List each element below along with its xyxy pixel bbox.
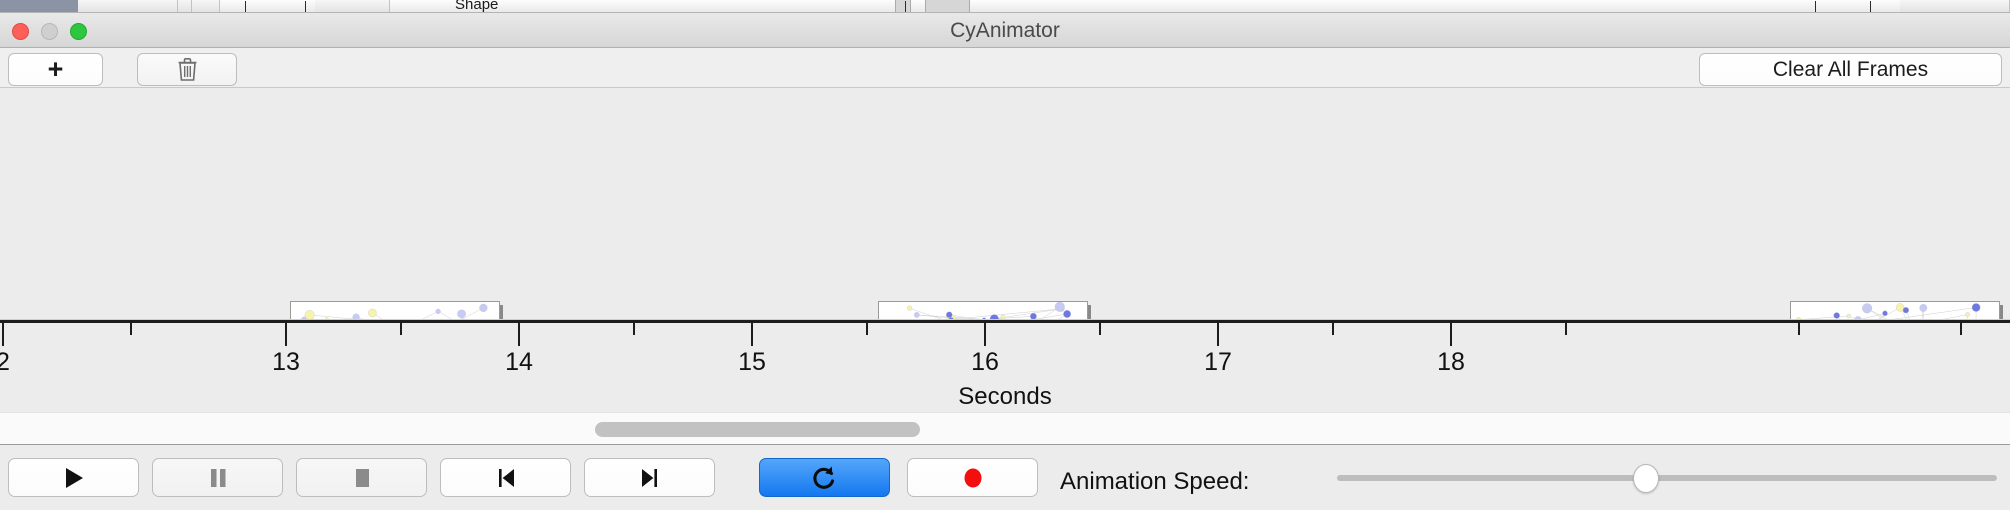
ruler-tick-label: 16 [971,348,999,377]
background-block [895,0,911,13]
ruler-tick-major [751,323,753,346]
background-window-strip: Shape [0,0,2010,13]
ruler-tick-label: 17 [1204,348,1232,377]
background-tab [315,0,390,13]
plus-icon: + [48,56,64,83]
ruler-tick-minor [130,323,132,335]
background-mark [905,1,906,13]
keyframe-panel[interactable]: MCM1MCM1MCM1 [0,88,2010,320]
timeline-ruler[interactable]: 2131415161718 Seconds [0,320,2010,410]
ruler-tick-minor [1798,323,1800,335]
play-button[interactable] [8,458,139,497]
background-selected-tab [0,0,78,13]
background-mark [245,1,246,13]
ruler-tick-minor [1099,323,1101,335]
ruler-tick-label: 13 [272,348,300,377]
ruler-tick-major [984,323,986,346]
clear-all-frames-label: Clear All Frames [1773,58,1928,82]
trash-icon [178,58,197,81]
slider-track [1337,475,1997,481]
clear-all-frames-button[interactable]: Clear All Frames [1699,53,2002,86]
playback-toolbar: Animation Speed: [0,446,2010,510]
window-title: CyAnimator [0,13,2010,48]
ruler-tick-minor [1960,323,1962,335]
background-tab [78,0,178,13]
keyframe-thumbnail[interactable]: MCM1 [290,301,500,320]
toolbar: + Clear All Frames [0,48,2010,88]
background-tab [1900,0,2010,13]
skip-forward-icon [637,465,663,491]
first-frame-button[interactable] [440,458,571,497]
background-block [925,0,970,13]
cyanimator-window: Shape CyAnimator + Clear All [0,0,2010,510]
background-tab [178,0,192,13]
ruler-tick-minor [400,323,402,335]
skip-back-icon [493,465,519,491]
pause-icon [205,465,231,491]
ruler-tick-label: 2 [0,348,10,377]
record-button[interactable] [907,458,1038,497]
horizontal-scrollbar[interactable] [0,412,2010,445]
last-frame-button[interactable] [584,458,715,497]
ruler-tick-major [2,323,4,346]
record-icon [961,466,985,490]
ruler-tick-minor [1332,323,1334,335]
play-icon [61,465,87,491]
background-tab [192,0,220,13]
ruler-tick-major [518,323,520,346]
ruler-baseline [0,320,2010,323]
background-window-word: Shape [455,0,498,13]
add-frame-button[interactable]: + [8,53,103,86]
axis-title: Seconds [0,383,2010,410]
ruler-tick-minor [633,323,635,335]
loop-icon [811,464,838,491]
ruler-tick-minor [866,323,868,335]
background-mark [1815,1,1816,13]
ruler-tick-major [285,323,287,346]
keyframe-thumbnail[interactable]: MCM1 [878,301,1088,320]
loop-button[interactable] [759,458,890,497]
animation-speed-label: Animation Speed: [1060,468,1249,496]
title-bar: CyAnimator [0,13,2010,48]
ruler-tick-label: 18 [1437,348,1465,377]
ruler-tick-major [1217,323,1219,346]
animation-speed-slider[interactable] [1337,458,1997,497]
scrollbar-thumb[interactable] [595,422,920,437]
ruler-tick-major [1450,323,1452,346]
keyframe-thumbnail[interactable]: MCM1 [1790,301,2000,320]
pause-button[interactable] [152,458,283,497]
ruler-tick-label: 15 [738,348,766,377]
delete-frame-button[interactable] [137,53,237,86]
stop-button[interactable] [296,458,427,497]
ruler-tick-label: 14 [505,348,533,377]
ruler-tick-minor [1565,323,1567,335]
slider-thumb[interactable] [1633,464,1659,493]
stop-icon [349,465,375,491]
background-mark [305,1,306,13]
background-mark [1870,1,1871,13]
